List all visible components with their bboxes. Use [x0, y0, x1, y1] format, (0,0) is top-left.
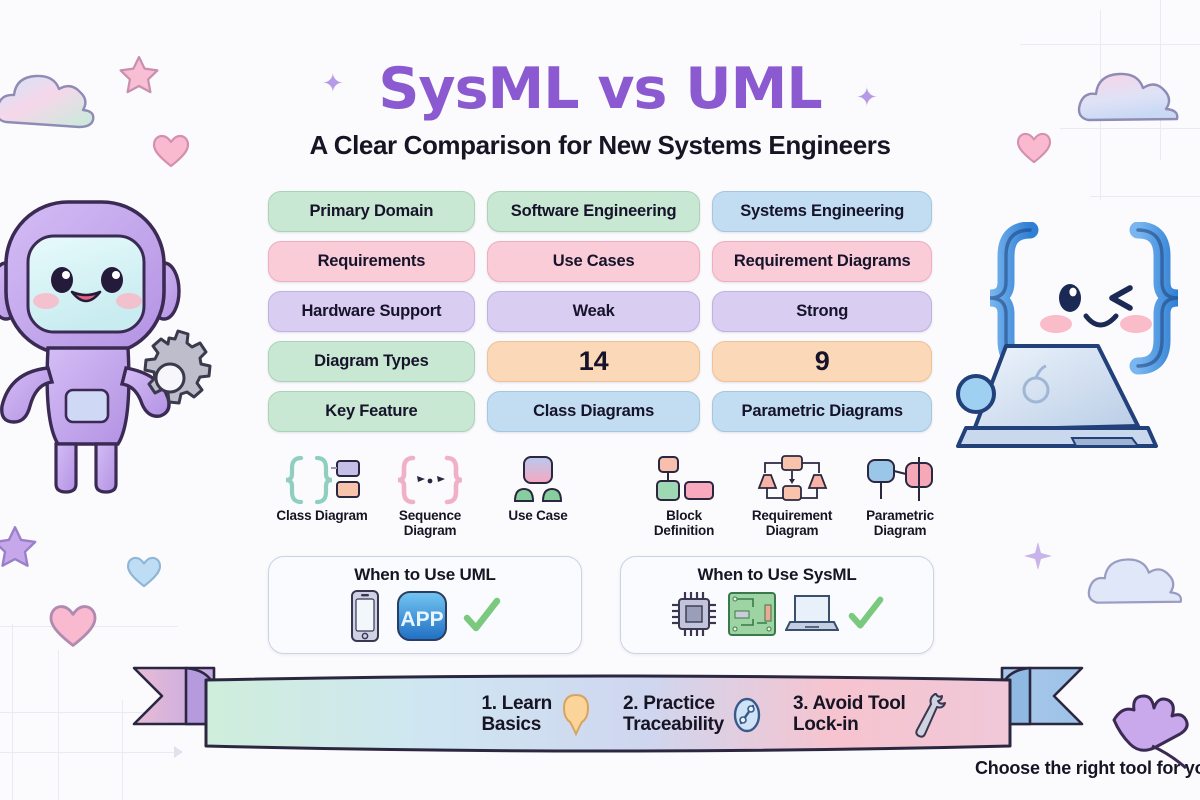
table-row-label: Primary Domain — [268, 191, 475, 232]
magnifier-icon — [731, 695, 763, 735]
tips-ribbon: 1. Learn Basics 2. Practice Traceability — [128, 662, 1088, 762]
comparison-table: Primary Domain Software Engineering Syst… — [268, 191, 932, 441]
sequence-diagram-icon — [376, 452, 484, 508]
grid-line — [58, 650, 59, 800]
app-icon: APP — [396, 590, 448, 642]
table-row-label: Key Feature — [268, 391, 475, 432]
table-cell-uml: 14 — [487, 341, 701, 382]
tip-item: 2. Practice Traceability — [623, 694, 763, 736]
table-cell-sysml: Requirement Diagrams — [712, 241, 932, 282]
diagram-icon-caption-2: Diagram — [404, 523, 457, 538]
table-row-label: Hardware Support — [268, 291, 475, 332]
diagram-icon-caption: Sequence — [399, 508, 461, 523]
wrench-icon — [913, 692, 947, 738]
table-cell-sysml: Strong — [712, 291, 932, 332]
table-cell-uml: Class Diagrams — [487, 391, 701, 432]
tip-line2: Lock-in — [793, 714, 858, 735]
diagram-icon-caption-2: Diagram — [874, 523, 927, 538]
table-cell-sysml: Parametric Diagrams — [712, 391, 932, 432]
when-to-use-sysml-card[interactable]: When to Use SysML — [620, 556, 934, 654]
diagram-icon-caption: Requirement — [752, 508, 832, 523]
infographic-canvas: ✦ SysML vs UML ✦ A Clear Comparison for … — [0, 0, 1200, 800]
robot-mascot — [0, 196, 232, 496]
grid-line — [1020, 44, 1200, 45]
diagram-icon-caption-2: Definition — [654, 523, 714, 538]
when-to-use-uml-card[interactable]: When to Use UML APP — [268, 556, 582, 654]
diagram-icon-use-case: Use Case — [484, 452, 592, 523]
tip-line1: 3. Avoid Tool — [793, 693, 906, 714]
table-row: Hardware Support Weak Strong — [268, 291, 932, 332]
diagram-icon-requirement-diagram: Requirement Diagram — [738, 452, 846, 538]
star-decoration — [0, 524, 38, 570]
table-row: Diagram Types 14 9 — [268, 341, 932, 382]
tip-line2: Traceability — [623, 714, 724, 735]
table-cell-sysml: Systems Engineering — [712, 191, 932, 232]
lightbulb-icon — [559, 693, 593, 737]
check-icon — [462, 596, 502, 636]
requirement-diagram-icon — [738, 452, 846, 508]
circuit-board-icon — [727, 591, 777, 637]
diagram-icon-strip: Class Diagram Sequence Diagram — [268, 452, 932, 544]
block-definition-icon — [630, 452, 738, 508]
smartphone-icon — [348, 589, 382, 643]
tip-line2: Basics — [482, 714, 541, 735]
diagram-icon-block-definition: Block Definition — [630, 452, 738, 538]
sparkle-icon: ✦ — [856, 82, 878, 113]
table-row: Primary Domain Software Engineering Syst… — [268, 191, 932, 232]
microchip-icon — [669, 589, 719, 639]
laptop-icon — [958, 346, 1156, 446]
grid-line — [122, 700, 123, 800]
tip-item: 1. Learn Basics — [482, 693, 593, 737]
table-cell-uml: Weak — [487, 291, 701, 332]
tip-line1: 2. Practice — [623, 693, 715, 714]
sparkle-decoration — [1024, 542, 1052, 570]
heart-decoration — [48, 604, 98, 648]
table-row-label: Requirements — [268, 241, 475, 282]
diagram-icon-caption: Parametric — [866, 508, 934, 523]
laptop-icon — [785, 592, 839, 636]
tip-item: 3. Avoid Tool Lock-in — [793, 692, 947, 738]
grid-line — [1090, 196, 1200, 197]
when-to-use-uml-title: When to Use UML — [269, 565, 581, 585]
grid-line — [12, 624, 13, 800]
heart-decoration — [126, 556, 162, 588]
waving-hand-icon — [1108, 690, 1198, 770]
page-title: SysML vs UML — [0, 56, 1200, 122]
diagram-icon-parametric-diagram: Parametric Diagram — [846, 452, 954, 538]
parametric-diagram-icon — [846, 452, 954, 508]
check-icon — [847, 595, 885, 633]
when-to-use-sysml-title: When to Use SysML — [621, 565, 933, 585]
diagram-icon-class-diagram: Class Diagram — [268, 452, 376, 523]
table-cell-uml: Use Cases — [487, 241, 701, 282]
diagram-icon-caption: Block — [666, 508, 702, 523]
tips-list: 1. Learn Basics 2. Practice Traceability — [324, 682, 1104, 748]
page-subtitle: A Clear Comparison for New Systems Engin… — [0, 130, 1200, 161]
gear-icon — [145, 331, 210, 403]
diagram-icon-caption-2: Diagram — [766, 523, 819, 538]
diagram-icon-sequence-diagram: Sequence Diagram — [376, 452, 484, 538]
table-cell-uml: Software Engineering — [487, 191, 701, 232]
diagram-icon-caption: Use Case — [508, 508, 567, 523]
cloud-decoration — [1086, 546, 1200, 620]
curly-brace-mascot — [952, 222, 1196, 462]
tip-line1: 1. Learn — [482, 693, 552, 714]
table-cell-sysml: 9 — [712, 341, 932, 382]
table-row-label: Diagram Types — [268, 341, 475, 382]
class-diagram-icon — [268, 452, 376, 508]
use-case-icon — [484, 452, 592, 508]
diagram-icon-caption: Class Diagram — [276, 508, 367, 523]
app-icon-label: APP — [400, 608, 443, 631]
table-row: Key Feature Class Diagrams Parametric Di… — [268, 391, 932, 432]
table-row: Requirements Use Cases Requirement Diagr… — [268, 241, 932, 282]
